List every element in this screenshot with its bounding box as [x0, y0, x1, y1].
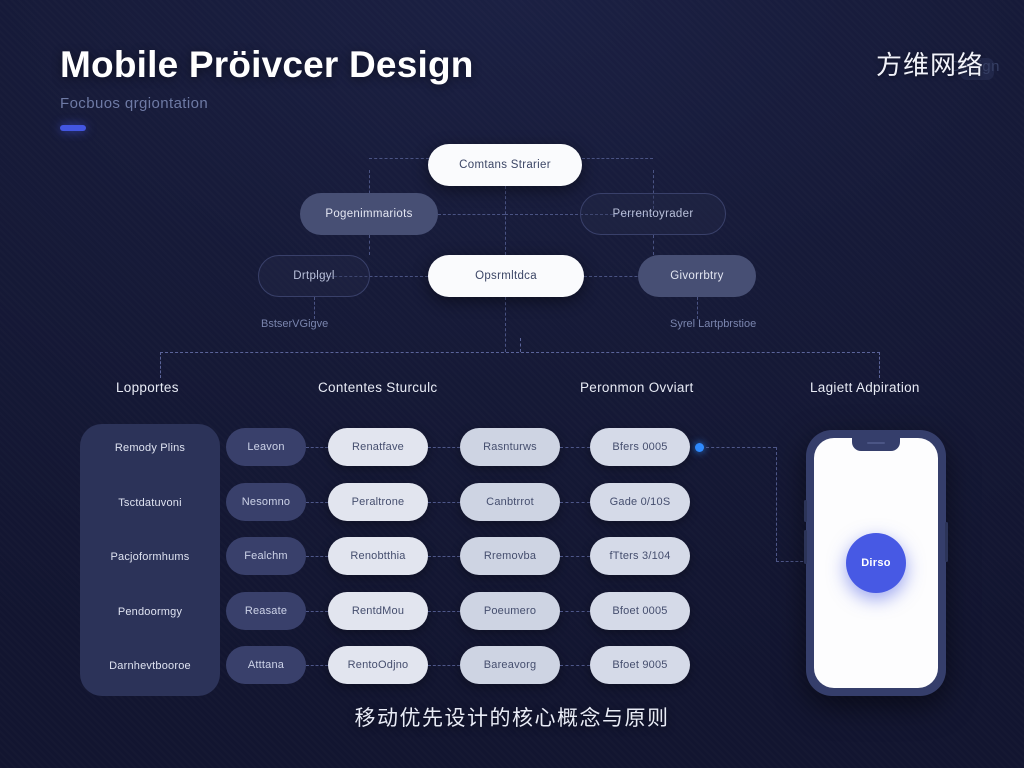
phone-notch — [852, 438, 900, 451]
row-cell-c2[interactable]: Atttana — [226, 646, 306, 684]
row-connector — [306, 611, 328, 612]
row-connector — [306, 556, 328, 557]
flow-node-5[interactable]: Givorrbtry — [638, 255, 756, 297]
row-connector — [428, 611, 460, 612]
section-bracket — [160, 352, 880, 378]
row-cell-c3[interactable]: RentoOdjno — [328, 646, 428, 684]
page-title: Mobile Pröivcer Design — [60, 44, 474, 86]
row-cell-c3[interactable]: Renatfave — [328, 428, 428, 466]
row-cell-c4[interactable]: Rremovba — [460, 537, 560, 575]
connector-right-down — [653, 235, 654, 255]
connector-left-down — [369, 235, 370, 255]
flow-node-3[interactable]: Drtplgyl — [258, 255, 370, 297]
phone-button-power — [945, 522, 948, 562]
row-cell-c5[interactable]: Bfers 0005 — [590, 428, 690, 466]
row-connector — [306, 665, 328, 666]
phone-speaker-icon — [867, 442, 885, 444]
row-cell-c5[interactable]: Bfoet 0005 — [590, 592, 690, 630]
row-cell-c5[interactable]: Bfoet 9005 — [590, 646, 690, 684]
row-connector — [428, 502, 460, 503]
row-connector — [560, 611, 590, 612]
phone-connector-vertical — [776, 447, 777, 561]
column-header-2: Peronmon Ovviart — [580, 380, 694, 395]
row-cell-c4[interactable]: Bareavorg — [460, 646, 560, 684]
connector-vertical-center — [505, 186, 506, 255]
row-connector — [560, 665, 590, 666]
connector-top-left-elbow — [369, 158, 429, 159]
flow-subnote-0: BstserVGigve — [261, 318, 328, 330]
connector-sub-right — [697, 297, 698, 319]
column-header-1: Contentes Sturculc — [318, 380, 437, 395]
row-cell-c2[interactable]: Leavon — [226, 428, 306, 466]
flow-node-2[interactable]: Perrentoyrader — [580, 193, 726, 235]
row-cell-c4[interactable]: Rasnturws — [460, 428, 560, 466]
row-connector — [560, 447, 590, 448]
flow-node-4[interactable]: Opsrmltdca — [428, 255, 584, 297]
row-label: Tsctdatuvoni — [80, 483, 220, 523]
highlight-connector — [706, 447, 776, 448]
row-cell-c2[interactable]: Nesomno — [226, 483, 306, 521]
watermark-label: 方维网络 — [876, 45, 984, 82]
row-cell-c3[interactable]: Peraltrone — [328, 483, 428, 521]
connector-top-right-elbow — [582, 158, 653, 159]
flow-node-0[interactable]: Comtans Strarier — [428, 144, 582, 186]
flow-subnote-1: Syrel Lartpbrstioe — [670, 318, 756, 330]
flow-chart: Comtans StrarierPogenimmariotsPerrentoyr… — [0, 130, 1024, 350]
row-connector — [306, 502, 328, 503]
row-cell-c3[interactable]: Renobtthia — [328, 537, 428, 575]
page-subtitle: Focbuos qrgiontation — [60, 95, 208, 112]
bracket-left-drop — [160, 352, 161, 378]
bracket-top — [160, 352, 880, 353]
row-cell-c4[interactable]: Canbtrrot — [460, 483, 560, 521]
row-label: Remody Plins — [80, 428, 220, 468]
row-cell-c3[interactable]: RentdMou — [328, 592, 428, 630]
column-header-0: Lopportes — [116, 380, 179, 395]
flow-node-1[interactable]: Pogenimmariots — [300, 193, 438, 235]
phone-mockup: Dirso — [806, 430, 946, 696]
column-header-3: Lagiett Adpiration — [810, 380, 920, 395]
row-label: Pendoormgy — [80, 592, 220, 632]
phone-button-volume-up — [804, 530, 807, 564]
phone-button-mute — [804, 500, 807, 522]
slide-canvas: Mobile Pröivcer Design Focbuos qrgiontat… — [0, 0, 1024, 768]
connector-center-down — [505, 297, 506, 352]
row-label: Pacjoformhums — [80, 537, 220, 577]
row-connector — [560, 556, 590, 557]
row-connector — [306, 447, 328, 448]
phone-screen: Dirso — [814, 438, 938, 688]
row-label: Darnhevtbooroe — [80, 646, 220, 686]
row-cell-c2[interactable]: Fealchm — [226, 537, 306, 575]
slide-caption: 移动优先设计的核心概念与原则 — [0, 702, 1024, 732]
row-connector — [428, 665, 460, 666]
row-connector — [560, 502, 590, 503]
bracket-stem — [520, 338, 521, 352]
row-connector — [428, 447, 460, 448]
bracket-right-drop — [879, 352, 880, 378]
row-cell-c5[interactable]: Gade 0/10S — [590, 483, 690, 521]
highlight-dot[interactable] — [695, 443, 704, 452]
connector-sub-left — [314, 297, 315, 319]
row-cell-c2[interactable]: Reasate — [226, 592, 306, 630]
cta-button[interactable]: Dirso — [846, 533, 906, 593]
row-connector — [428, 556, 460, 557]
row-cell-c5[interactable]: fTters 3/104 — [590, 537, 690, 575]
row-cell-c4[interactable]: Poeumero — [460, 592, 560, 630]
